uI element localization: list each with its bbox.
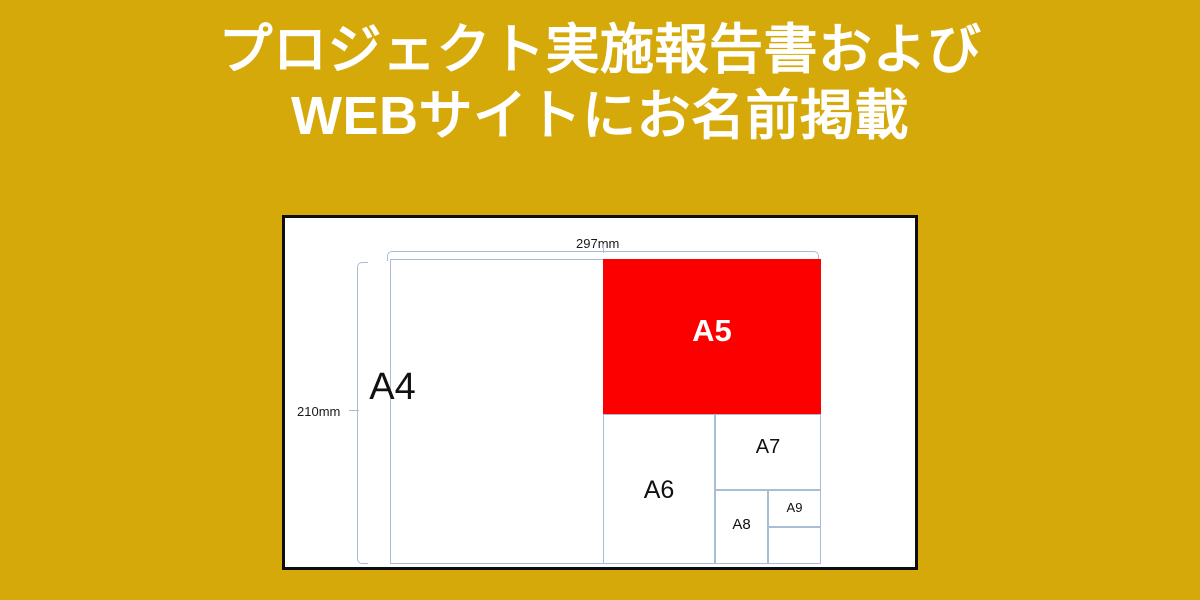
paper-label-a7: A7 — [715, 436, 821, 459]
paper-size-diagram: 297mm 210mm A4 A5 A6 A7 A8 A9 — [282, 215, 918, 570]
paper-label-a9: A9 — [768, 500, 821, 515]
paper-rect-a10 — [768, 527, 821, 564]
page-title: プロジェクト実施報告書および WEBサイトにお名前掲載 — [0, 18, 1200, 150]
dimension-label-width: 297mm — [576, 236, 619, 251]
paper-label-a6: A6 — [603, 476, 715, 505]
poster-canvas: プロジェクト実施報告書および WEBサイトにお名前掲載 297mm 210mm … — [0, 0, 1200, 600]
paper-label-a5: A5 — [603, 313, 821, 349]
dimension-tick-vertical — [349, 410, 359, 411]
dimension-tick-horizontal — [603, 244, 604, 253]
page-title-line-2: WEBサイトにお名前掲載 — [0, 84, 1200, 150]
dimension-bracket-vertical — [357, 262, 368, 564]
paper-label-a4: A4 — [285, 366, 500, 409]
page-title-line-1: プロジェクト実施報告書および — [0, 18, 1200, 84]
diagram-inner: 297mm 210mm A4 A5 A6 A7 A8 A9 — [285, 218, 915, 567]
paper-label-a8: A8 — [715, 516, 768, 533]
